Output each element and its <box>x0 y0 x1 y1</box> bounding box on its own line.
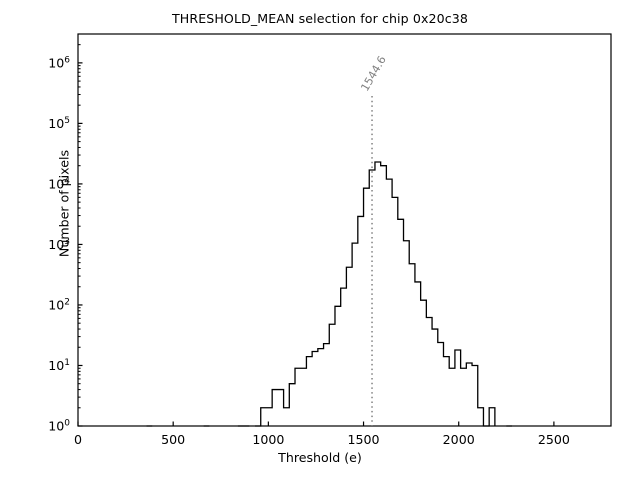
x-tick-label: 2500 <box>538 432 570 447</box>
x-axis-ticks: 05001000150020002500 <box>74 422 570 448</box>
x-tick-label: 1000 <box>252 432 284 447</box>
x-tick-label: 2000 <box>443 432 475 447</box>
x-tick-label: 500 <box>161 432 185 447</box>
y-tick-label: 100 <box>48 418 70 433</box>
figure-canvas: THRESHOLD_MEAN selection for chip 0x20c3… <box>0 0 640 480</box>
histogram-plot: 1001011021031041051060500100015002000250… <box>0 0 640 480</box>
y-axis-label: Number of pixels <box>57 44 72 364</box>
threshold-mean-vline-label: 1544.6 <box>358 54 389 94</box>
histogram-step-line <box>147 162 512 426</box>
plot-frame <box>78 34 611 426</box>
x-axis-label: Threshold (e) <box>0 450 640 465</box>
x-tick-label: 0 <box>74 432 82 447</box>
x-tick-label: 1500 <box>348 432 380 447</box>
